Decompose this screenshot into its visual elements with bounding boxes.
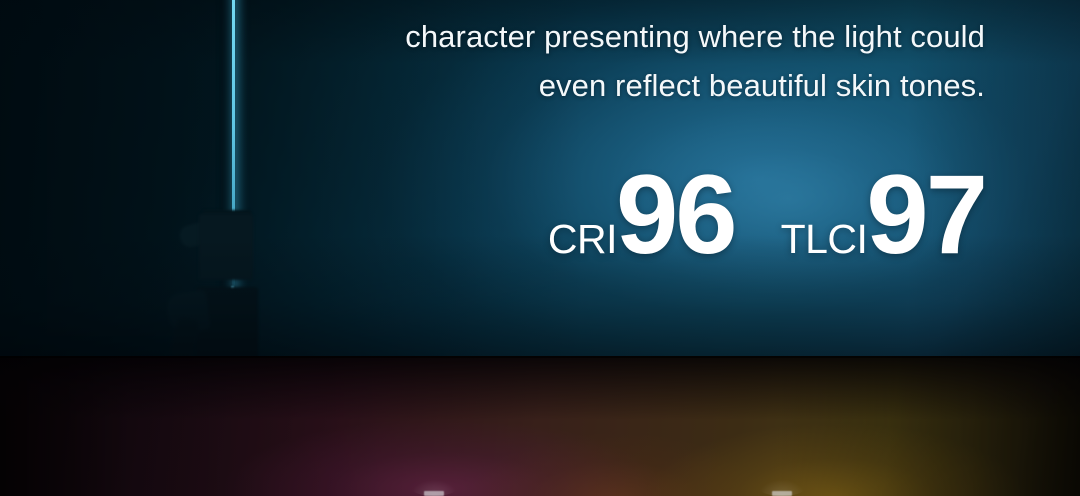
metrics-row: CRI96 TLCI97 [0,150,985,279]
body-copy-line-2: even reflect beautiful skin tones. [0,61,985,110]
metric-tlci-value: 97 [866,152,985,277]
marker-left [424,491,444,496]
marker-right [772,491,792,496]
hero-body-copy: character presenting where the light cou… [0,12,985,110]
metric-cri-label: CRI [548,216,617,262]
metric-tlci-label: TLCI [781,216,868,262]
hero-panel: character presenting where the light cou… [0,0,1080,356]
metric-cri-value: 96 [616,152,735,277]
warm-top-shadow [0,356,1080,420]
panel-seam [0,356,1080,358]
body-copy-line-1: character presenting where the light cou… [0,12,985,61]
metric-tlci: TLCI97 [781,150,985,279]
metric-cri: CRI96 [548,150,735,279]
warm-color-band [0,356,1080,496]
promo-slide: character presenting where the light cou… [0,0,1080,496]
